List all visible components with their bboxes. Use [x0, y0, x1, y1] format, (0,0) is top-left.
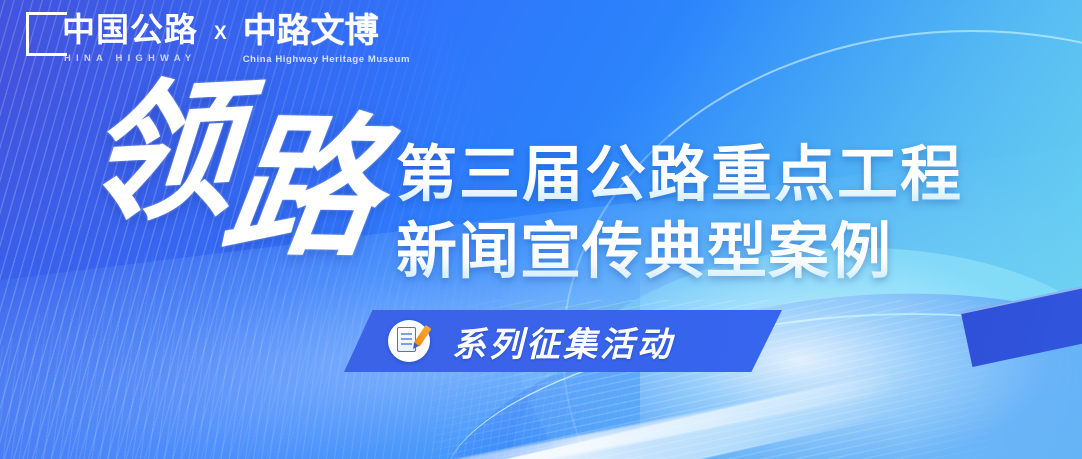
headline-block: 第三届公路重点工程 新闻宣传典型案例	[396, 138, 963, 288]
ribbon-label: 系列征集活动	[452, 317, 674, 366]
logo-heritage-museum[interactable]: 中路文博 China Highway Heritage Museum	[243, 8, 410, 65]
pencil-icon	[413, 325, 431, 347]
background-dark-chip	[961, 281, 1082, 367]
calligraphy-lingu: 领路	[80, 67, 380, 232]
background-light-beam-secondary	[155, 373, 904, 459]
promo-banner: 中国公路 HINA HIGHWAY X 中路文博 China Highway H…	[0, 0, 1082, 459]
calligraphy-char-ling: 领	[79, 61, 236, 244]
logo-separator-x: X	[212, 8, 229, 60]
logo-china-highway-en: HINA HIGHWAY	[64, 53, 198, 64]
headline-line-1: 第三届公路重点工程	[396, 138, 963, 211]
ribbon-banner[interactable]: 系列征集活动	[344, 310, 782, 372]
logo-row: 中国公路 HINA HIGHWAY X 中路文博 China Highway H…	[26, 8, 410, 65]
logo-heritage-museum-en: China Highway Heritage Museum	[243, 54, 410, 65]
bracket-box-icon	[26, 12, 64, 56]
headline-line-2: 新闻宣传典型案例	[396, 215, 963, 288]
logo-heritage-museum-cn: 中路文博	[243, 8, 410, 54]
calligraphy-char-lu: 路	[215, 109, 383, 265]
logo-china-highway-cn: 中国公路	[62, 8, 198, 52]
logo-china-highway[interactable]: 中国公路 HINA HIGHWAY	[26, 8, 198, 64]
clipboard-pencil-icon	[388, 320, 430, 362]
background-light-beam	[96, 369, 905, 459]
